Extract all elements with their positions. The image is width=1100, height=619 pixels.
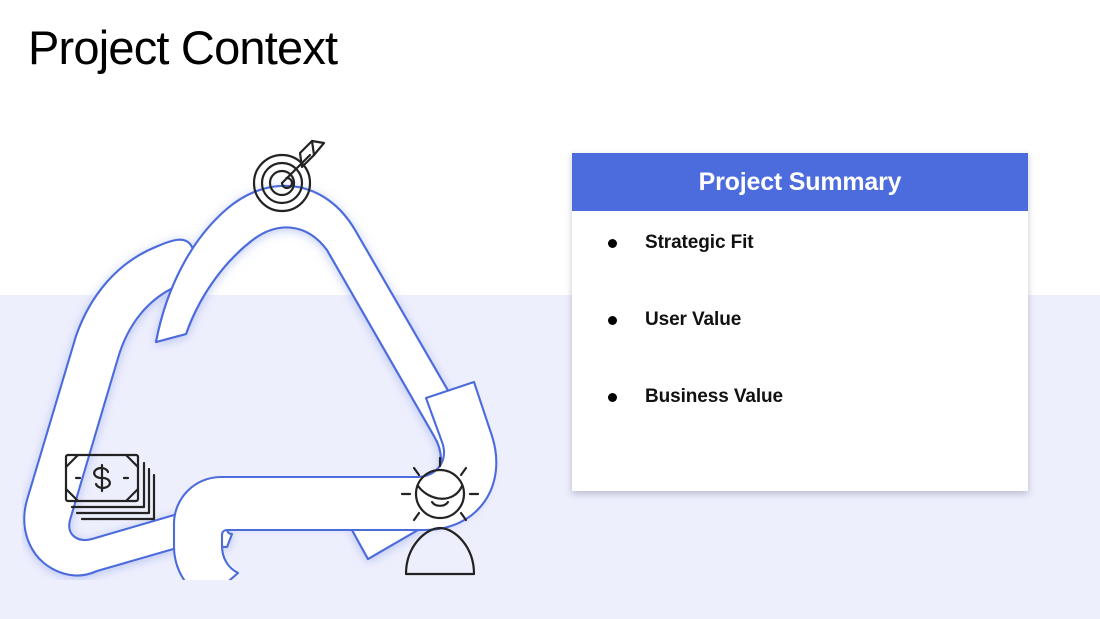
diagram-arm-bottom-right-overlay	[174, 382, 496, 580]
card-body: Strategic Fit User Value Business Value	[572, 211, 1028, 460]
list-item[interactable]: Business Value	[572, 383, 1028, 460]
list-item[interactable]: User Value	[572, 306, 1028, 383]
page-title: Project Context	[28, 18, 337, 78]
bullet-dot-icon	[608, 393, 617, 402]
card-header-title: Project Summary	[699, 153, 902, 211]
bullet-dot-icon	[608, 239, 617, 248]
project-summary-card: Project Summary Strategic Fit User Value…	[572, 153, 1028, 491]
slide-canvas: Project Context	[0, 0, 1100, 619]
bullet-label: Business Value	[645, 383, 783, 411]
card-header: Project Summary	[572, 153, 1028, 211]
list-item[interactable]: Strategic Fit	[572, 229, 1028, 306]
interlocking-triangle-diagram	[22, 100, 542, 580]
bullet-dot-icon	[608, 316, 617, 325]
bullet-label: Strategic Fit	[645, 229, 754, 257]
bullet-label: User Value	[645, 306, 741, 334]
